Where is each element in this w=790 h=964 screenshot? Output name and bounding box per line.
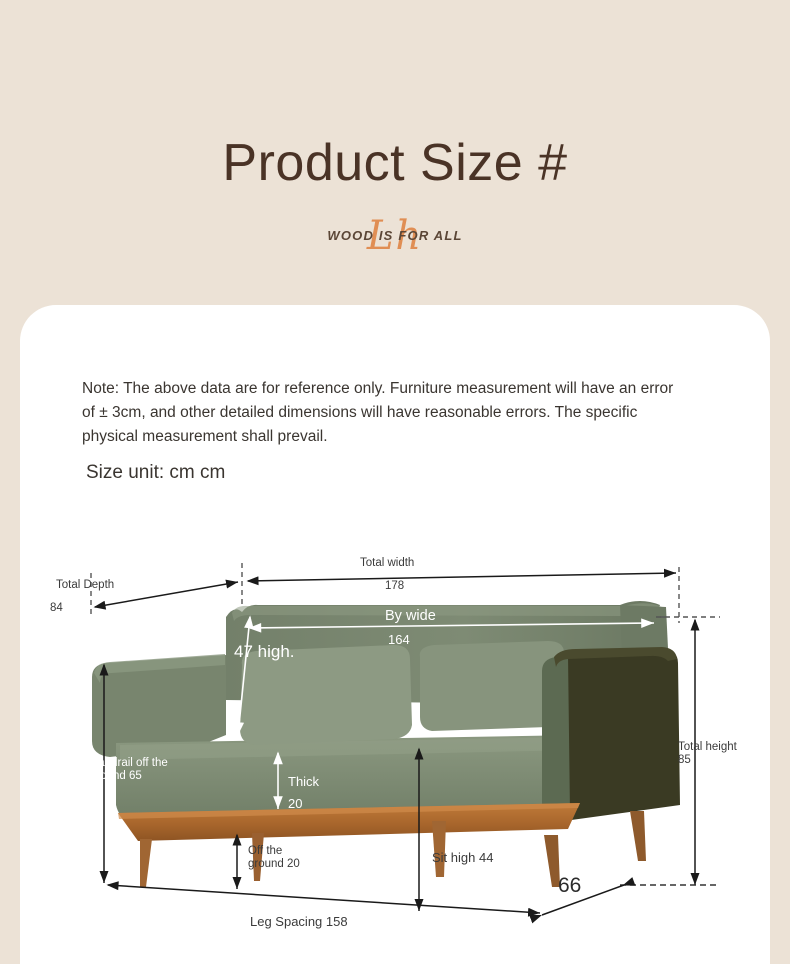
label-total-height: Total height: [678, 741, 737, 754]
label-seat-thickness: Thick: [288, 775, 319, 788]
content-card: Note: The above data are for reference o…: [20, 305, 770, 964]
value-total-depth: 84: [50, 602, 63, 615]
label-side-depth: 66: [558, 879, 581, 892]
page-header: Product Size # Lh WOOD IS FOR ALL: [0, 0, 790, 300]
value-by-wide: 164: [388, 633, 410, 646]
value-total-height: 85: [678, 754, 691, 767]
sofa-illustration: [92, 601, 680, 887]
label-back-height: 47 high.: [234, 645, 295, 658]
label-total-depth: Total Depth: [56, 579, 114, 592]
label-off-ground: Off the ground 20: [248, 845, 300, 871]
value-seat-thickness: 20: [288, 797, 302, 810]
page-title: Product Size #: [0, 133, 790, 193]
brand-logo: Lh WOOD IS FOR ALL: [295, 210, 495, 266]
label-by-wide: By wide: [385, 610, 436, 623]
label-sit-height: Sit high 44: [432, 851, 493, 864]
product-size-page: Product Size # Lh WOOD IS FOR ALL Note: …: [0, 0, 790, 964]
value-total-width: 178: [385, 580, 404, 593]
label-leg-spacing: Leg Spacing 158: [250, 915, 348, 928]
sofa-dimension-diagram: Total Depth 84 Total width 178 By wide 1…: [20, 305, 770, 964]
logo-wordmark: WOOD IS FOR ALL: [295, 228, 495, 243]
label-handrail-height: Handrail off the ground 65: [90, 757, 168, 783]
label-total-width: Total width: [360, 557, 414, 570]
